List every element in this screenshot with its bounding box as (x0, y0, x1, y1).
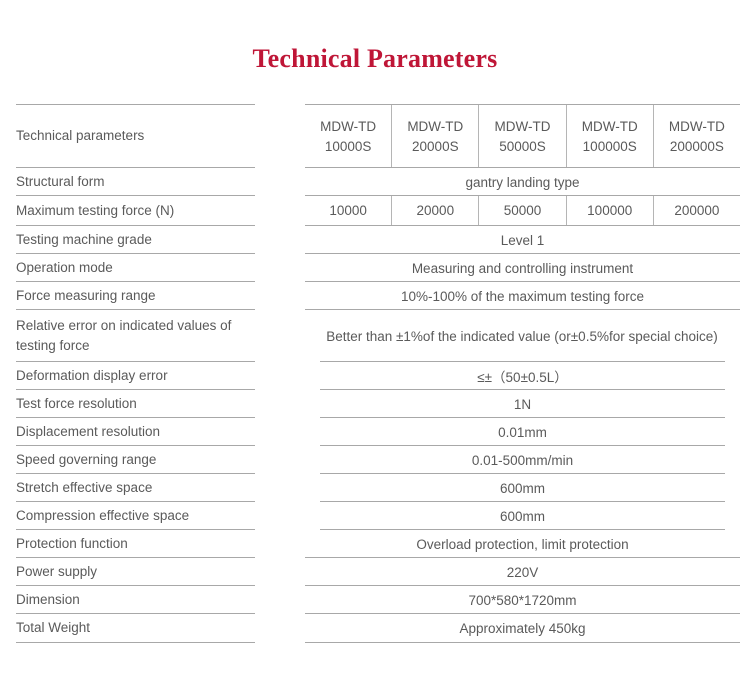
force-value-5: 200000 (653, 196, 740, 226)
row-value: gantry landing type (305, 168, 740, 196)
specification-table: Technical parameters MDW-TD 10000S MDW-T… (0, 104, 750, 643)
row-label: Compression effective space (16, 502, 258, 530)
model-number: 200000S (670, 137, 724, 157)
force-value-3: 50000 (478, 196, 565, 226)
row-value: Overload protection, limit protection (305, 530, 740, 558)
table-row-dimension: Dimension 700*580*1720mm (0, 586, 750, 614)
row-value: 0.01mm (305, 418, 740, 446)
row-value: 600mm (305, 474, 740, 502)
row-value: Better than ±1%of the indicated value (o… (296, 310, 748, 362)
table-row-machine-grade: Testing machine grade Level 1 (0, 226, 750, 254)
row-label: Structural form (16, 168, 258, 196)
model-family: MDW-TD (407, 117, 463, 137)
model-family: MDW-TD (495, 117, 551, 137)
model-number: 20000S (412, 137, 459, 157)
row-value: 0.01-500mm/min (305, 446, 740, 474)
table-row-stretch-space: Stretch effective space 600mm (0, 474, 750, 502)
left-header-label: Technical parameters (16, 105, 258, 168)
model-column-4: MDW-TD 100000S (566, 105, 653, 168)
row-value: Approximately 450kg (305, 614, 740, 643)
model-family: MDW-TD (320, 117, 376, 137)
force-value-1: 10000 (305, 196, 391, 226)
page-title: Technical Parameters (0, 44, 750, 74)
row-label: Dimension (16, 586, 258, 614)
technical-parameters-page: Technical Parameters Technical parameter… (0, 0, 750, 693)
row-label: Protection function (16, 530, 258, 558)
table-row-max-testing-force: Maximum testing force (N) 10000 20000 50… (0, 196, 750, 226)
row-label: Relative error on indicated values of te… (16, 310, 258, 362)
row-value: ≤±（50±0.5L） (305, 362, 740, 390)
row-value: Level 1 (305, 226, 740, 254)
row-label: Power supply (16, 558, 258, 586)
model-column-2: MDW-TD 20000S (391, 105, 478, 168)
row-value: 220V (305, 558, 740, 586)
table-row-relative-error: Relative error on indicated values of te… (0, 310, 750, 362)
row-label: Speed governing range (16, 446, 258, 474)
table-row-total-weight: Total Weight Approximately 450kg (0, 614, 750, 643)
row-label: Test force resolution (16, 390, 258, 418)
table-row-power-supply: Power supply 220V (0, 558, 750, 586)
table-row-structural-form: Structural form gantry landing type (0, 168, 750, 196)
table-row-compression-space: Compression effective space 600mm (0, 502, 750, 530)
model-number: 10000S (325, 137, 372, 157)
table-row-protection-function: Protection function Overload protection,… (0, 530, 750, 558)
row-label: Deformation display error (16, 362, 258, 390)
model-family: MDW-TD (669, 117, 725, 137)
rule-right (305, 642, 740, 643)
rule-left (16, 642, 255, 643)
row-value: 700*580*1720mm (305, 586, 740, 614)
model-columns: MDW-TD 10000S MDW-TD 20000S MDW-TD 50000… (305, 105, 740, 168)
row-value: 10%-100% of the maximum testing force (305, 282, 740, 310)
model-number: 100000S (583, 137, 637, 157)
row-label: Force measuring range (16, 282, 258, 310)
table-row-speed-range: Speed governing range 0.01-500mm/min (0, 446, 750, 474)
force-value-2: 20000 (391, 196, 478, 226)
model-column-1: MDW-TD 10000S (305, 105, 391, 168)
row-value: 600mm (305, 502, 740, 530)
row-label: Operation mode (16, 254, 258, 282)
table-header-row: Technical parameters MDW-TD 10000S MDW-T… (0, 105, 750, 168)
table-row-deformation-error: Deformation display error ≤±（50±0.5L） (0, 362, 750, 390)
force-value-columns: 10000 20000 50000 100000 200000 (305, 196, 740, 226)
table-row-displacement-resolution: Displacement resolution 0.01mm (0, 418, 750, 446)
row-label: Displacement resolution (16, 418, 258, 446)
model-family: MDW-TD (582, 117, 638, 137)
row-label: Testing machine grade (16, 226, 258, 254)
table-row-force-range: Force measuring range 10%-100% of the ma… (0, 282, 750, 310)
row-value: 1N (305, 390, 740, 418)
row-label: Maximum testing force (N) (16, 196, 258, 226)
row-value: Measuring and controlling instrument (305, 254, 740, 282)
table-row-operation-mode: Operation mode Measuring and controlling… (0, 254, 750, 282)
table-row-force-resolution: Test force resolution 1N (0, 390, 750, 418)
model-column-5: MDW-TD 200000S (653, 105, 740, 168)
force-value-4: 100000 (566, 196, 653, 226)
row-label: Total Weight (16, 614, 258, 643)
row-label: Stretch effective space (16, 474, 258, 502)
model-column-3: MDW-TD 50000S (478, 105, 565, 168)
model-number: 50000S (499, 137, 546, 157)
